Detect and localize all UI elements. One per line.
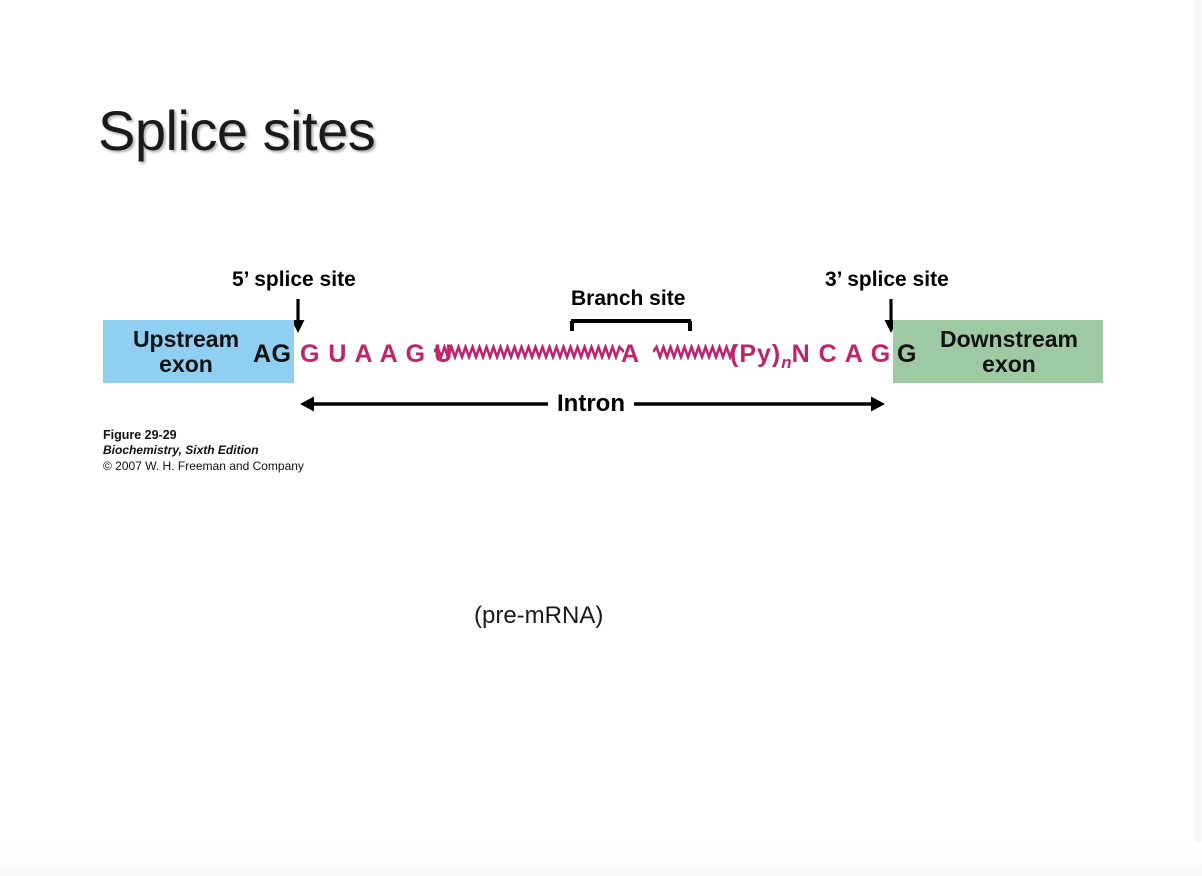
branch-site-bracket-icon (569, 319, 693, 333)
intron-strand-left-icon (434, 344, 624, 360)
splice-site-diagram: 5’ splice site 3’ splice site Branch sit… (0, 0, 1202, 876)
downstream-exon-label: Downstream exon (925, 327, 1093, 376)
intron-strand-right-icon (653, 344, 735, 360)
downstream-exon-label-line1: Downstream (925, 327, 1093, 351)
pre-mrna-label: (pre-mRNA) (474, 602, 603, 630)
upstream-exon-label-line1: Upstream (111, 327, 261, 351)
source-book-title: Biochemistry, Sixth Edition (103, 443, 304, 458)
upstream-exon-label-line2: exon (111, 352, 261, 376)
polypyrimidine-tract-subscript: n (781, 353, 791, 372)
polypyrimidine-tract-label: (Py) (730, 340, 781, 368)
branch-point-adenosine: A (621, 340, 640, 369)
figure-number: Figure 29-29 (103, 428, 304, 443)
downstream-exon-label-line2: exon (925, 352, 1093, 376)
five-prime-splice-site-label: 5’ splice site (232, 268, 356, 292)
upstream-exon-label: Upstream exon (111, 327, 261, 376)
upstream-exon-terminal-nucleotides: AG (253, 340, 292, 369)
acceptor-consensus-sequence: (Py)nN C A G (730, 340, 891, 373)
three-prime-splice-site-label: 3’ splice site (825, 268, 949, 292)
acceptor-consensus-suffix: N C A G (792, 340, 892, 368)
donor-consensus-sequence: G U A A G U (300, 340, 453, 369)
branch-site-label: Branch site (571, 287, 685, 311)
figure-credit: Figure 29-29 Biochemistry, Sixth Edition… (103, 428, 304, 474)
intron-label: Intron (548, 390, 634, 418)
downstream-exon-box: Downstream exon (893, 320, 1103, 383)
downstream-exon-terminal-nucleotide: G (897, 340, 917, 369)
copyright-notice: © 2007 W. H. Freeman and Company (103, 458, 304, 474)
